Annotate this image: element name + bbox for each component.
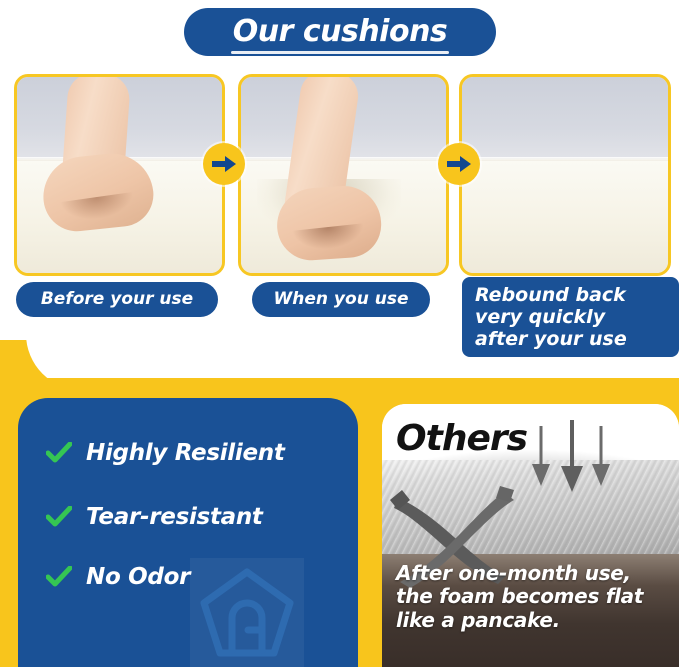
- down-arrow-icon: [560, 420, 584, 494]
- caption-before-label: Before your use: [41, 291, 193, 308]
- demo-photo-before: [14, 74, 225, 276]
- feature-label: Highly Resilient: [86, 440, 285, 466]
- demo-photo-rebounded: [459, 74, 671, 276]
- arrow-right-icon: [203, 143, 245, 185]
- our-features-panel: Highly Resilient Tear-resistant No Odor: [18, 398, 358, 667]
- check-icon: [46, 506, 72, 528]
- caption-rebound: Rebound back very quickly after your use: [462, 277, 679, 357]
- fist-shape: [275, 183, 384, 262]
- caption-before: Before your use: [16, 282, 218, 317]
- photo-background-wall: [462, 77, 668, 163]
- others-panel: Others: [382, 404, 679, 667]
- photo-foam-surface: [462, 159, 668, 273]
- caption-when: When you use: [252, 282, 430, 317]
- feature-label: Tear-resistant: [86, 504, 263, 530]
- page-title-inner: Our cushions: [227, 17, 454, 47]
- feature-label: No Odor: [86, 564, 190, 590]
- feature-item-tear-resistant: Tear-resistant: [46, 504, 263, 530]
- caption-when-label: When you use: [274, 291, 409, 308]
- check-icon: [46, 442, 72, 464]
- feature-item-resilient: Highly Resilient: [46, 440, 285, 466]
- photo-foam-edge: [462, 157, 668, 161]
- check-icon: [46, 566, 72, 588]
- down-arrow-icon: [590, 426, 612, 488]
- others-caption: After one-month use, the foam becomes fl…: [396, 562, 643, 632]
- caption-rebound-label: Rebound back very quickly after your use: [475, 284, 627, 350]
- page-title: Our cushions: [233, 14, 448, 49]
- pentagon-house-logo-icon: [190, 558, 304, 667]
- page-title-pill: Our cushions: [184, 8, 496, 56]
- demo-photo-pressing: [238, 74, 449, 276]
- arrow-right-icon: [438, 143, 480, 185]
- feature-item-no-odor: No Odor: [46, 564, 190, 590]
- down-arrow-icon: [530, 426, 552, 488]
- infographic-page: Our cushions B: [0, 0, 679, 667]
- title-underline: [231, 51, 450, 54]
- others-title: Others: [396, 418, 527, 459]
